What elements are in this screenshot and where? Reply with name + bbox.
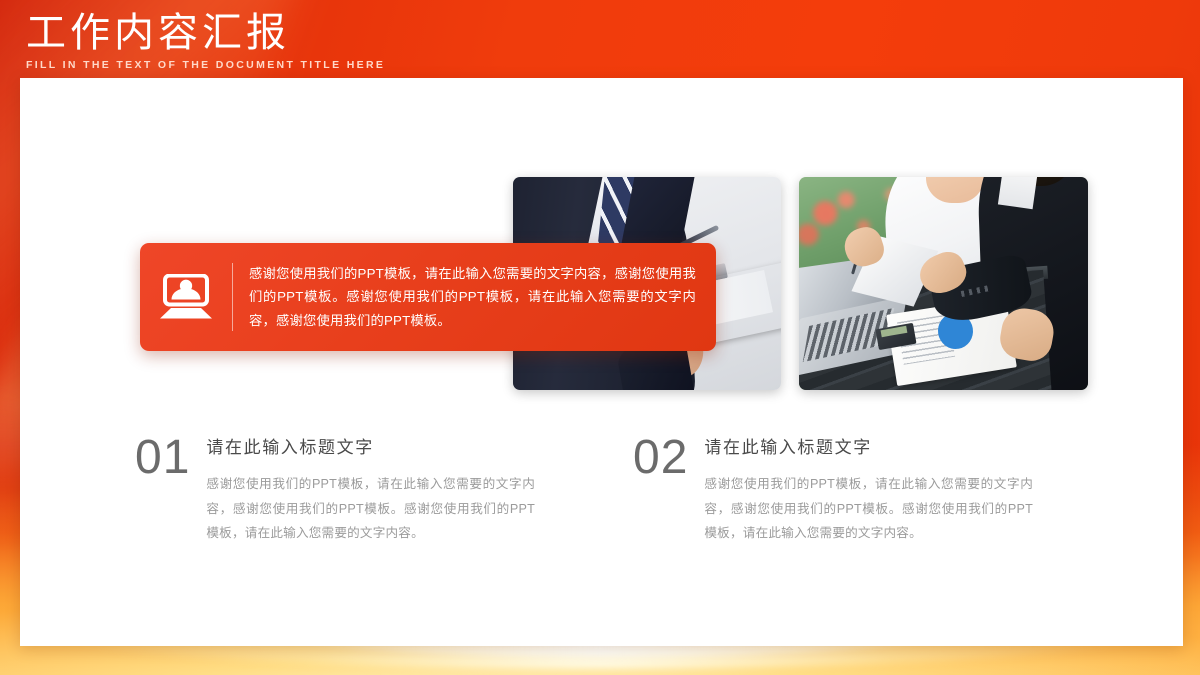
item-number: 01 [135,432,190,546]
item-body: 请在此输入标题文字 感谢您使用我们的PPT模板，请在此输入您需要的文字内容，感谢… [704,432,1033,546]
slide-canvas: 工作内容汇报 FILL IN THE TEXT OF THE DOCUMENT … [0,0,1200,675]
item-title: 请在此输入标题文字 [206,438,535,458]
photo2-man-collar [998,177,1039,209]
page-subtitle: FILL IN THE TEXT OF THE DOCUMENT TITLE H… [26,59,385,71]
item-description: 感谢您使用我们的PPT模板，请在此输入您需要的文字内容，感谢您使用我们的PPT模… [704,472,1033,546]
red-callout-box[interactable]: 感谢您使用我们的PPT模板，请在此输入您需要的文字内容，感谢您使用我们的PPT模… [140,243,716,351]
callout-text: 感谢您使用我们的PPT模板，请在此输入您需要的文字内容，感谢您使用我们的PPT模… [233,262,716,333]
laptop-presentation-icon [140,274,232,320]
page-title: 工作内容汇报 [26,12,385,55]
photo-team-laptop-outdoor [799,177,1088,390]
numbered-items: 01 请在此输入标题文字 感谢您使用我们的PPT模板，请在此输入您需要的文字内容… [135,432,1095,546]
list-item[interactable]: 01 请在此输入标题文字 感谢您使用我们的PPT模板，请在此输入您需要的文字内容… [135,432,535,546]
list-item[interactable]: 02 请在此输入标题文字 感谢您使用我们的PPT模板，请在此输入您需要的文字内容… [633,432,1033,546]
item-body: 请在此输入标题文字 感谢您使用我们的PPT模板，请在此输入您需要的文字内容，感谢… [206,432,535,546]
item-number: 02 [633,432,688,546]
slide-header: 工作内容汇报 FILL IN THE TEXT OF THE DOCUMENT … [26,12,385,71]
item-title: 请在此输入标题文字 [704,438,1033,458]
item-description: 感谢您使用我们的PPT模板，请在此输入您需要的文字内容，感谢您使用我们的PPT模… [206,472,535,546]
